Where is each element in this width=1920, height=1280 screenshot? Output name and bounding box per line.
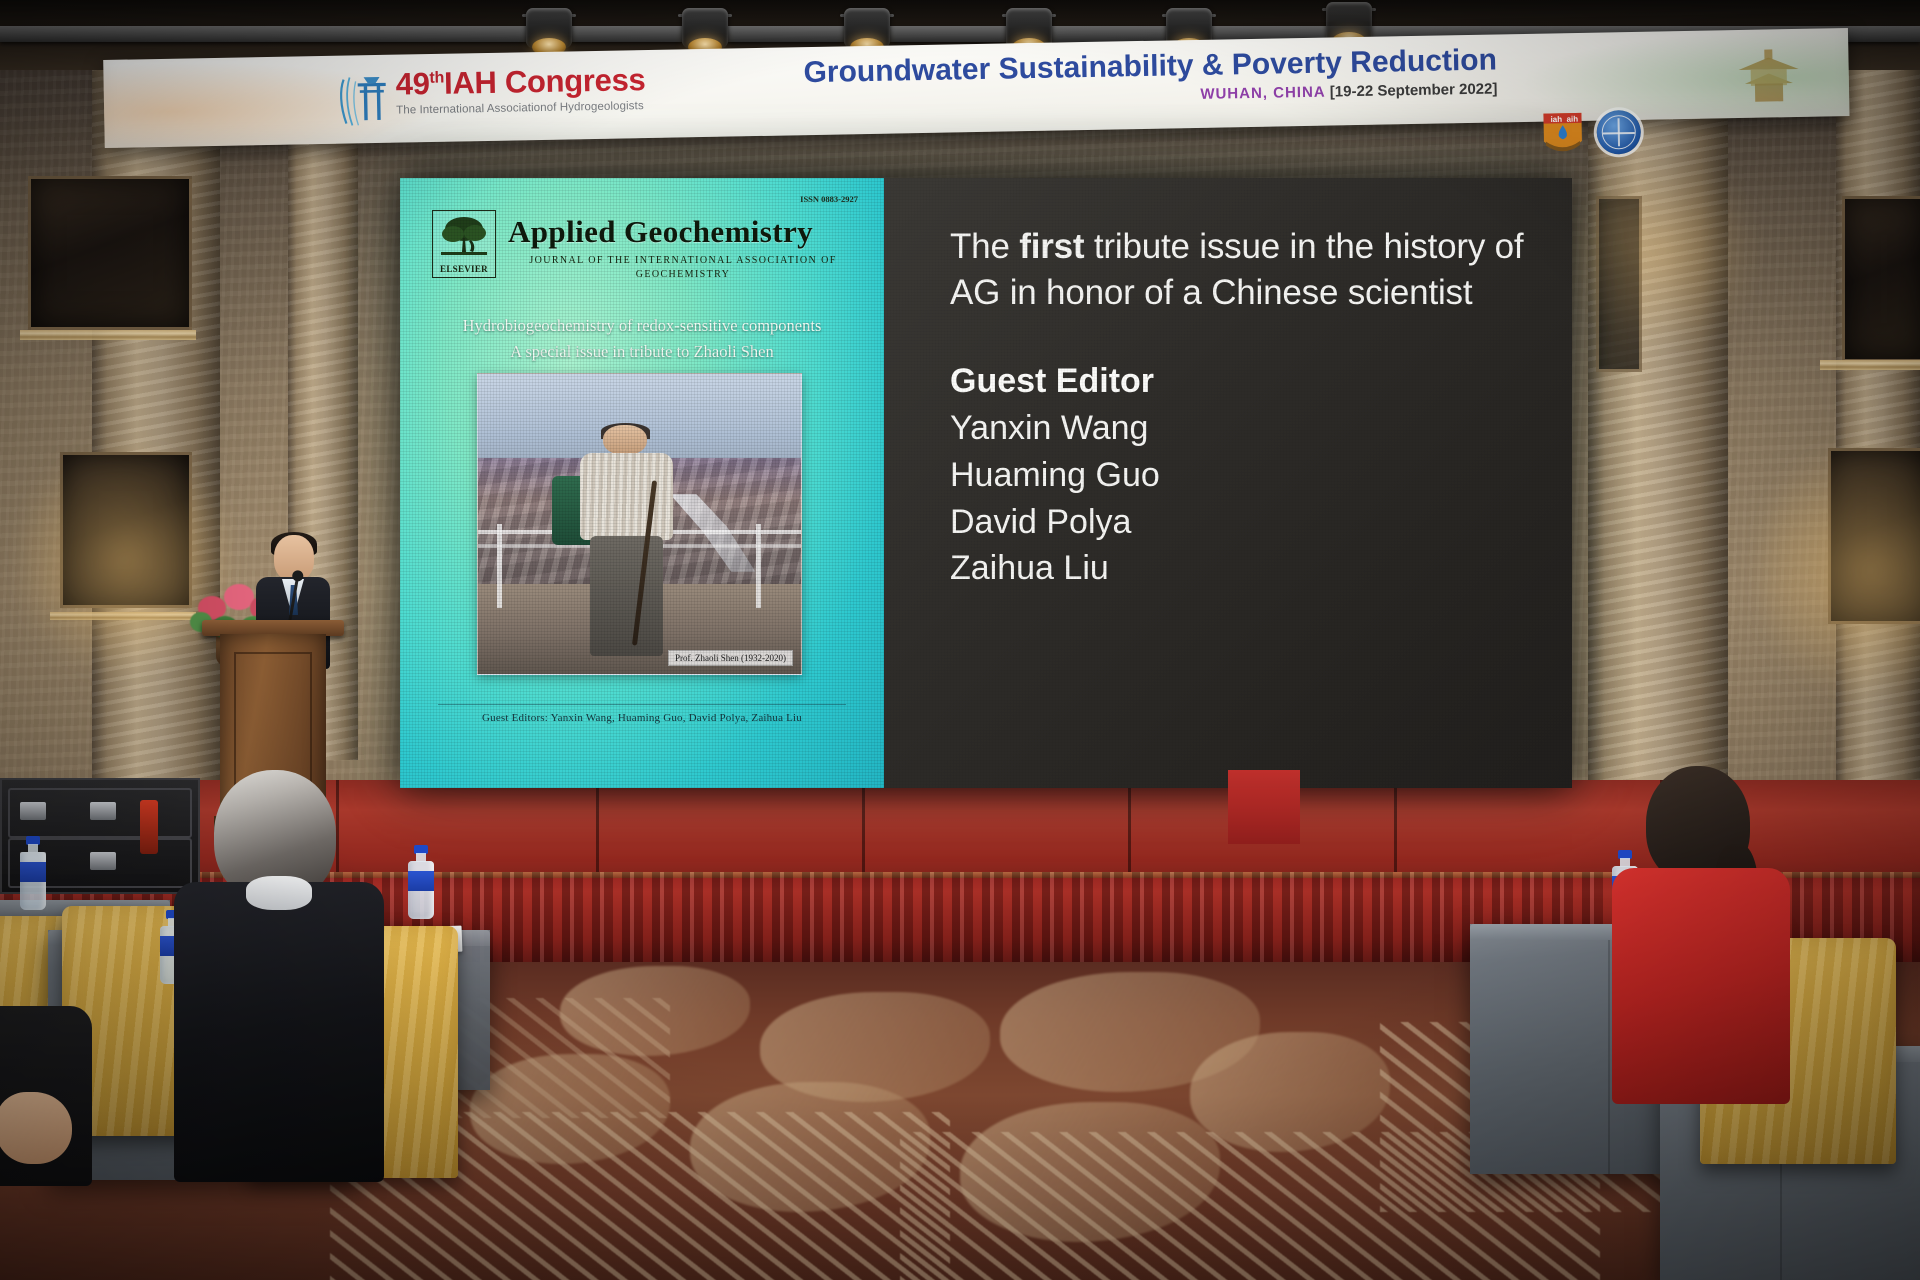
professor-photo: Prof. Zhaoli Shen (1932-2020) — [477, 373, 802, 675]
elsevier-logo: ELSEVIER — [432, 210, 496, 278]
cover-guest-editors: Guest Editors: Yanxin Wang, Huaming Guo,… — [416, 712, 868, 724]
attendee-front-center-collar — [246, 876, 312, 910]
iah-shield-logo-icon: iah aih — [1541, 111, 1584, 158]
guest-editor-2: Huaming Guo — [950, 452, 1532, 499]
attendee-front-center-torso — [174, 882, 384, 1182]
attendee-left-edge-arm — [0, 1092, 72, 1164]
gold-trim-right — [1820, 360, 1920, 370]
gold-trim-left-lower — [50, 612, 196, 620]
special-issue-title: Hydrobiogeochemistry of redox-sensitive … — [416, 313, 868, 364]
slide-headline: The first tribute issue in the history o… — [950, 224, 1532, 316]
attendee-right-red — [1596, 766, 1816, 1186]
slide-journal-cover-panel: ISSN 0883-2927 ELSEVIER Applied Geochemi… — [400, 178, 884, 788]
svg-text:aih: aih — [1566, 114, 1578, 123]
elsevier-tree-icon — [437, 214, 491, 258]
congress-title-block: 49thIAH Congress The International Assoc… — [395, 64, 646, 117]
stage-light-1 — [520, 0, 578, 58]
gold-trim-left — [20, 330, 196, 340]
journal-cover: ISSN 0883-2927 ELSEVIER Applied Geochemi… — [416, 188, 868, 780]
cover-divider — [438, 704, 846, 705]
photo-caption: Prof. Zhaoli Shen (1932-2020) — [668, 650, 793, 666]
guest-editor-3: David Polya — [950, 499, 1532, 546]
guest-editor-heading: Guest Editor — [950, 362, 1532, 401]
guest-editor-1: Yanxin Wang — [950, 405, 1532, 452]
congress-ordinal: th — [429, 69, 444, 86]
presentation-photo-scene: 49thIAH Congress The International Assoc… — [0, 0, 1920, 1280]
headline-emphasis: first — [1019, 227, 1084, 266]
journal-title: Applied Geochemistry — [508, 214, 813, 250]
congress-title: 49thIAH Congress — [395, 64, 645, 100]
congress-number: 49 — [395, 66, 430, 102]
wall-niche-upper-right — [1842, 196, 1920, 362]
wall-niche-lower-right — [1828, 448, 1920, 624]
headline-part-1: The — [950, 227, 1019, 266]
congress-theme-block: Groundwater Sustainability & Poverty Red… — [803, 44, 1497, 109]
pagoda-graphic-icon — [1728, 45, 1809, 108]
water-bottle-1 — [20, 836, 46, 910]
fire-extinguisher — [140, 800, 158, 854]
congress-dates: [19-22 September 2022] — [1330, 80, 1498, 100]
organization-subtitle: The International Associationof Hydrogeo… — [396, 100, 646, 117]
congress-city: WUHAN, CHINA — [1200, 83, 1326, 102]
journal-issn: ISSN 0883-2927 — [800, 194, 858, 204]
special-issue-line-2: A special issue in tribute to Zhaoli She… — [426, 339, 858, 365]
attendee-left-edge — [0, 1006, 100, 1276]
svg-text:iah: iah — [1550, 115, 1562, 124]
attendee-right-torso — [1612, 868, 1790, 1104]
wall-niche-lower-left — [60, 452, 192, 608]
professor-figure — [562, 425, 691, 656]
iah-torii-icon — [333, 67, 390, 132]
attendee-front-center — [162, 770, 422, 1270]
guest-editor-list: Yanxin Wang Huaming Guo David Polya Zaih… — [950, 405, 1532, 591]
red-banner-sign — [1228, 770, 1300, 844]
wall-niche-upper-left — [28, 176, 192, 330]
journal-subtitle: JOURNAL OF THE INTERNATIONAL ASSOCIATION… — [508, 254, 858, 281]
wall-niche-mid-right — [1596, 196, 1642, 372]
guest-editor-4: Zaihua Liu — [950, 545, 1532, 592]
elsevier-wordmark: ELSEVIER — [433, 264, 495, 274]
led-presentation-screen: ISSN 0883-2927 ELSEVIER Applied Geochemi… — [400, 178, 1572, 788]
special-issue-line-1: Hydrobiogeochemistry of redox-sensitive … — [426, 313, 858, 339]
slide-text-panel: The first tribute issue in the history o… — [884, 178, 1572, 788]
congress-name: IAH Congress — [444, 62, 646, 101]
